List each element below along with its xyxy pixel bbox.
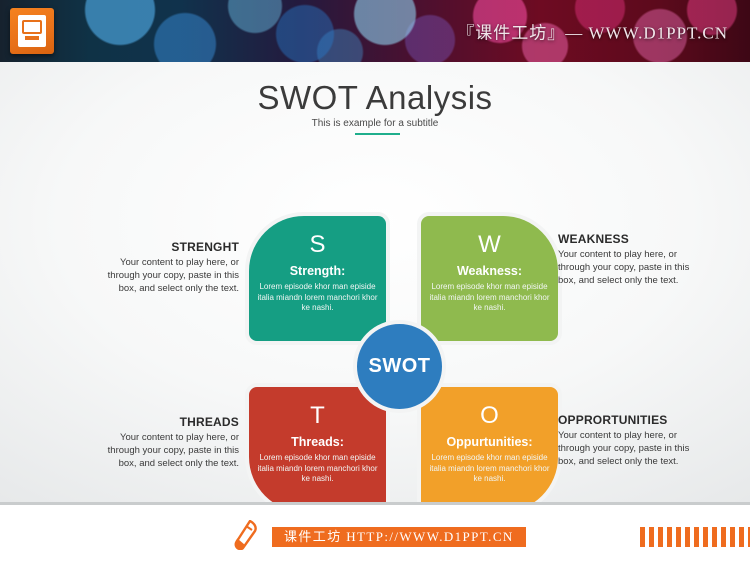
petal-weakness[interactable]: W Weakness: Lorem episode khor man episi… <box>421 216 558 341</box>
footer-url-label: 课件工坊 HTTP://WWW.D1PPT.CN <box>272 527 526 547</box>
petal-letter: O <box>421 404 558 428</box>
slide-body: SWOT Analysis This is example for a subt… <box>0 62 750 502</box>
callout-title: THREADS <box>99 415 239 429</box>
petal-letter: T <box>249 404 386 428</box>
callout-body: Your content to play here, or through yo… <box>558 430 698 468</box>
callout-body: Your content to play here, or through yo… <box>99 257 239 295</box>
petal-body: Lorem episode khor man episide italia mi… <box>249 453 386 485</box>
page-title: SWOT Analysis <box>0 79 750 117</box>
center-hub[interactable]: SWOT <box>353 320 446 413</box>
petal-threads[interactable]: T Threads: Lorem episode khor man episid… <box>249 387 386 512</box>
petal-letter: S <box>249 233 386 257</box>
petal-heading: Threads: <box>249 435 386 449</box>
callout-opportunities[interactable]: OPPRORTUNITIES Your content to play here… <box>558 413 698 468</box>
petal-strength[interactable]: S Strength: Lorem episode khor man episi… <box>249 216 386 341</box>
footer-bar: 课件工坊 HTTP://WWW.D1PPT.CN <box>0 502 750 563</box>
petal-heading: Oppurtunities: <box>421 435 558 449</box>
petal-body: Lorem episode khor man episide italia mi… <box>421 282 558 314</box>
petal-opportunities[interactable]: O Oppurtunities: Lorem episode khor man … <box>421 387 558 512</box>
page-subtitle: This is example for a subtitle <box>0 118 750 129</box>
ppt-document-icon <box>10 8 54 54</box>
petal-heading: Weakness: <box>421 264 558 278</box>
callout-title: STRENGHT <box>99 240 239 254</box>
callout-weakness[interactable]: WEAKNESS Your content to play here, or t… <box>558 232 698 287</box>
callout-title: WEAKNESS <box>558 232 698 246</box>
logo-bar-shape <box>25 36 39 40</box>
callout-title: OPPRORTUNITIES <box>558 413 698 427</box>
center-hub-label: SWOT <box>369 355 431 378</box>
pencil-icon <box>233 520 259 550</box>
petal-heading: Strength: <box>249 264 386 278</box>
top-banner: 『课件工坊』— WWW.D1PPT.CN <box>0 0 750 62</box>
petal-body: Lorem episode khor man episide italia mi… <box>421 453 558 485</box>
callout-body: Your content to play here, or through yo… <box>99 432 239 470</box>
callout-body: Your content to play here, or through yo… <box>558 249 698 287</box>
footer-stripes <box>640 527 750 547</box>
banner-site-text: 『课件工坊』— WWW.D1PPT.CN <box>457 19 728 44</box>
logo-chart-shape <box>22 20 42 34</box>
petal-body: Lorem episode khor man episide italia mi… <box>249 282 386 314</box>
callout-threads[interactable]: THREADS Your content to play here, or th… <box>99 415 239 470</box>
callout-strength[interactable]: STRENGHT Your content to play here, or t… <box>99 240 239 295</box>
slide-canvas: 『课件工坊』— WWW.D1PPT.CN SWOT Analysis This … <box>0 0 750 563</box>
petal-letter: W <box>421 233 558 257</box>
subtitle-underline <box>355 133 400 135</box>
